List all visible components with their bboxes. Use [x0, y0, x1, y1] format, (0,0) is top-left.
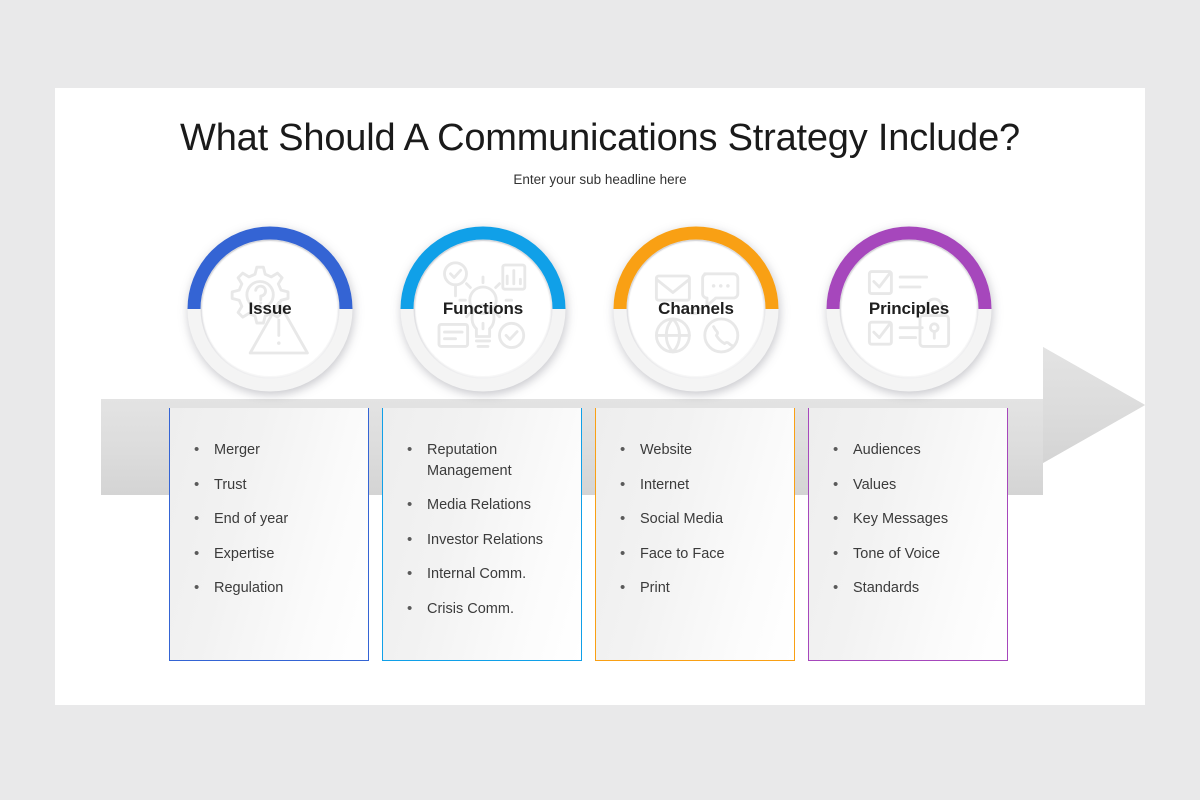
list-item: Social Media — [618, 509, 794, 530]
list-item: Trust — [192, 475, 368, 496]
list-item: Face to Face — [618, 544, 794, 565]
step-circle-channels[interactable]: Channels — [613, 226, 779, 392]
slide-canvas: What Should A Communications Strategy In… — [0, 0, 1200, 800]
list-item: Merger — [192, 440, 368, 461]
list-item: Investor Relations — [405, 530, 581, 551]
bullet-list: Audiences Values Key Messages Tone of Vo… — [809, 408, 1007, 599]
list-item: Standards — [831, 578, 1007, 599]
list-item: Values — [831, 475, 1007, 496]
slide-surface: What Should A Communications Strategy In… — [55, 88, 1145, 705]
list-item: Internal Comm. — [405, 564, 581, 585]
step-circle-issue[interactable]: Issue — [187, 226, 353, 392]
page-subtitle: Enter your sub headline here — [55, 172, 1145, 187]
list-item: Tone of Voice — [831, 544, 1007, 565]
list-item: Website — [618, 440, 794, 461]
circle-label: Principles — [869, 299, 949, 319]
circle-face-functions: Functions — [415, 241, 551, 377]
circle-face-channels: Channels — [628, 241, 764, 377]
list-item: Reputation Management — [405, 440, 581, 481]
bullet-panel-channels: Website Internet Social Media Face to Fa… — [595, 408, 795, 661]
bullet-panel-issue: Merger Trust End of year Expertise Regul… — [169, 408, 369, 661]
list-item: End of year — [192, 509, 368, 530]
bullet-list: Reputation Management Media Relations In… — [383, 408, 581, 619]
list-item: Internet — [618, 475, 794, 496]
list-item: Print — [618, 578, 794, 599]
page-title: What Should A Communications Strategy In… — [55, 117, 1145, 160]
step-circle-principles[interactable]: Principles — [826, 226, 992, 392]
list-item: Media Relations — [405, 495, 581, 516]
bullet-list: Website Internet Social Media Face to Fa… — [596, 408, 794, 599]
bullet-panel-principles: Audiences Values Key Messages Tone of Vo… — [808, 408, 1008, 661]
list-item: Audiences — [831, 440, 1007, 461]
circle-label: Functions — [443, 299, 523, 319]
circle-face-issue: Issue — [202, 241, 338, 377]
bullet-panel-functions: Reputation Management Media Relations In… — [382, 408, 582, 661]
list-item: Crisis Comm. — [405, 599, 581, 620]
list-item: Regulation — [192, 578, 368, 599]
circle-label: Issue — [249, 299, 292, 319]
step-circle-functions[interactable]: Functions — [400, 226, 566, 392]
list-item: Expertise — [192, 544, 368, 565]
list-item: Key Messages — [831, 509, 1007, 530]
circle-face-principles: Principles — [841, 241, 977, 377]
circle-label: Channels — [658, 299, 734, 319]
bullet-list: Merger Trust End of year Expertise Regul… — [170, 408, 368, 599]
